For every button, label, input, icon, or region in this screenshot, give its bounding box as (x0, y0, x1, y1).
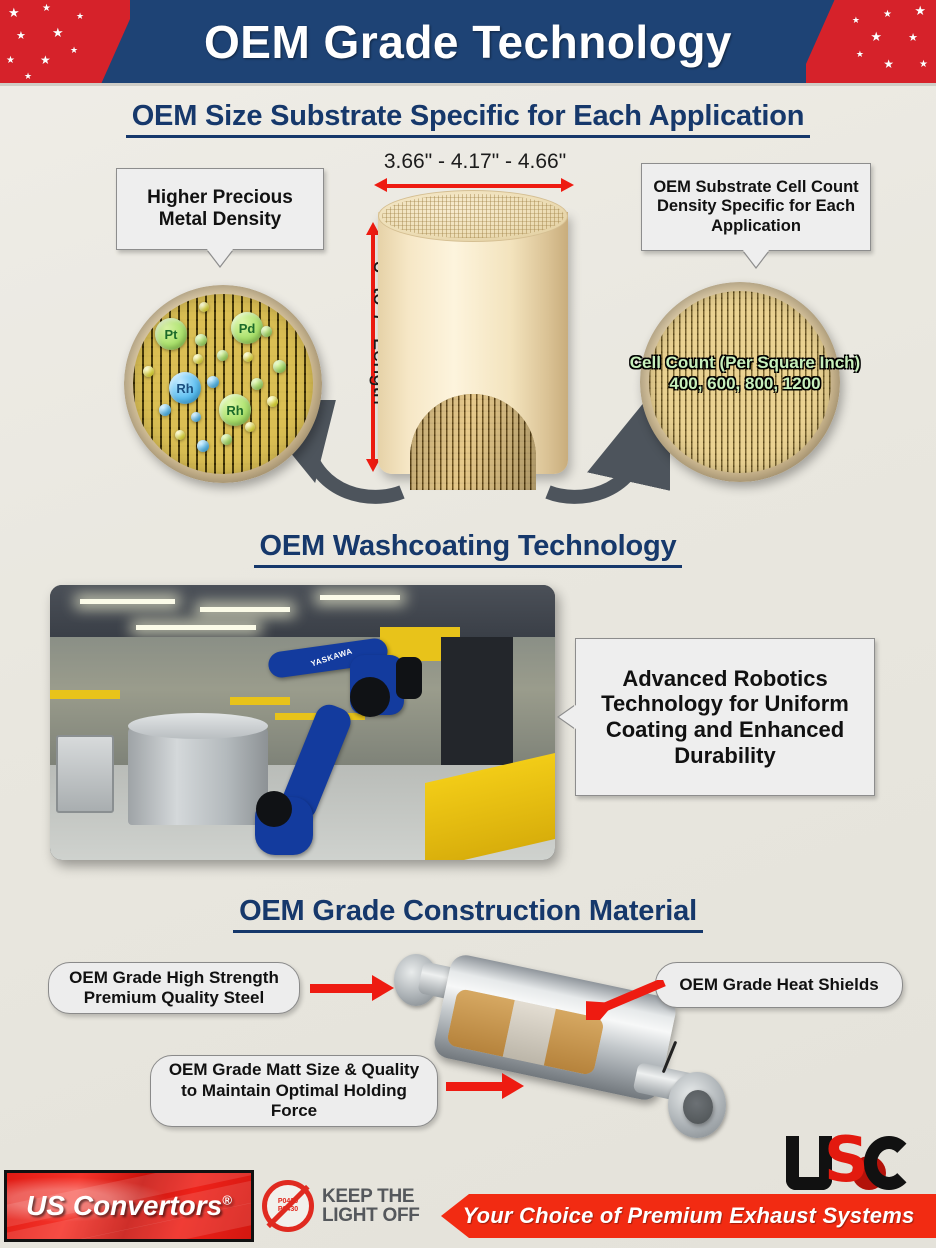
tagline-text: Your Choice of Premium Exhaust Systems (463, 1203, 915, 1229)
cylinder-top-face (378, 190, 568, 242)
callout-tail-icon (207, 249, 233, 266)
brand-logo-box: US Convertors® (4, 1170, 254, 1242)
callout-matt-size: OEM Grade Matt Size & Quality to Maintai… (150, 1055, 438, 1127)
no-dtc-icon: P0420 P0430 (262, 1180, 314, 1232)
keep-light-off-line1: KEEP THE (322, 1187, 420, 1206)
keep-light-off-line2: LIGHT OFF (322, 1206, 420, 1225)
callout-premium-steel-text: OEM Grade High Strength Premium Quality … (59, 968, 289, 1009)
section-title-washcoating-text: OEM Washcoating Technology (260, 530, 677, 568)
callout-advanced-robotics: Advanced Robotics Technology for Uniform… (575, 638, 875, 796)
converter-outlet-bore (683, 1090, 713, 1124)
section-title-construction: OEM Grade Construction Material (0, 895, 936, 933)
arrow-to-heat-shields-icon (586, 980, 666, 1020)
substrate-diameter-label: 3.66" - 4.17" - 4.66" (330, 150, 620, 174)
callout-precious-metal-density: Higher Precious Metal Density (116, 168, 324, 250)
callout-precious-metal-density-text: Higher Precious Metal Density (125, 187, 315, 231)
callout-advanced-robotics-text: Advanced Robotics Technology for Uniform… (588, 666, 862, 768)
robotics-photo: YASKAWA (50, 585, 555, 860)
converter-cutaway (446, 988, 605, 1076)
section-title-substrate-text: OEM Size Substrate Specific for Each App… (132, 100, 805, 138)
substrate-face-precious-metals: Pt Pd Rh Rh (124, 285, 322, 483)
usc-logo: S (786, 1134, 914, 1192)
brand-name: US Convertors® (26, 1190, 232, 1222)
page-title: OEM Grade Technology (0, 0, 936, 83)
section-title-substrate: OEM Size Substrate Specific for Each App… (0, 100, 936, 138)
section-title-construction-text: OEM Grade Construction Material (239, 895, 697, 933)
cell-count-annotation: Cell Count (Per Square Inch) 400, 600, 8… (600, 352, 890, 395)
cylinder-cutaway-cells (410, 394, 536, 490)
header-divider (0, 83, 936, 86)
keep-light-off-badge: P0420 P0430 KEEP THE LIGHT OFF (262, 1178, 437, 1234)
section-title-washcoating: OEM Washcoating Technology (0, 530, 936, 568)
page-header: ★ ★ ★ ★ ★ ★ ★ ★ ★ ★ ★ ★ ★ ★ ★ ★ ★ OEM Gr… (0, 0, 936, 83)
tagline-banner: Your Choice of Premium Exhaust Systems (441, 1194, 936, 1238)
callout-premium-steel: OEM Grade High Strength Premium Quality … (48, 962, 300, 1014)
usc-logo-s: S (824, 1134, 876, 1192)
callout-heat-shields-text: OEM Grade Heat Shields (679, 975, 878, 995)
keep-light-off-label: KEEP THE LIGHT OFF (322, 1187, 420, 1226)
callout-heat-shields: OEM Grade Heat Shields (655, 962, 903, 1008)
cell-count-title: Cell Count (Per Square Inch) (600, 352, 890, 373)
infographic-page: ★ ★ ★ ★ ★ ★ ★ ★ ★ ★ ★ ★ ★ ★ ★ ★ ★ OEM Gr… (0, 0, 936, 1248)
cell-count-values: 400, 600, 800, 1200 (600, 373, 890, 394)
arrow-to-steel-icon (310, 984, 372, 993)
callout-cell-count-density-text: OEM Substrate Cell Count Density Specifi… (650, 178, 862, 235)
arrow-to-matt-icon (446, 1082, 502, 1091)
callout-matt-size-text: OEM Grade Matt Size & Quality to Maintai… (161, 1060, 427, 1121)
brand-name-text: US Convertors (26, 1190, 222, 1221)
page-footer: US Convertors® P0420 P0430 KEEP THE LIGH… (0, 1158, 936, 1248)
callout-cell-count-density: OEM Substrate Cell Count Density Specifi… (641, 163, 871, 251)
registered-mark: ® (222, 1193, 232, 1208)
callout-tail-icon (743, 250, 769, 267)
callout-tail-icon (559, 705, 576, 729)
